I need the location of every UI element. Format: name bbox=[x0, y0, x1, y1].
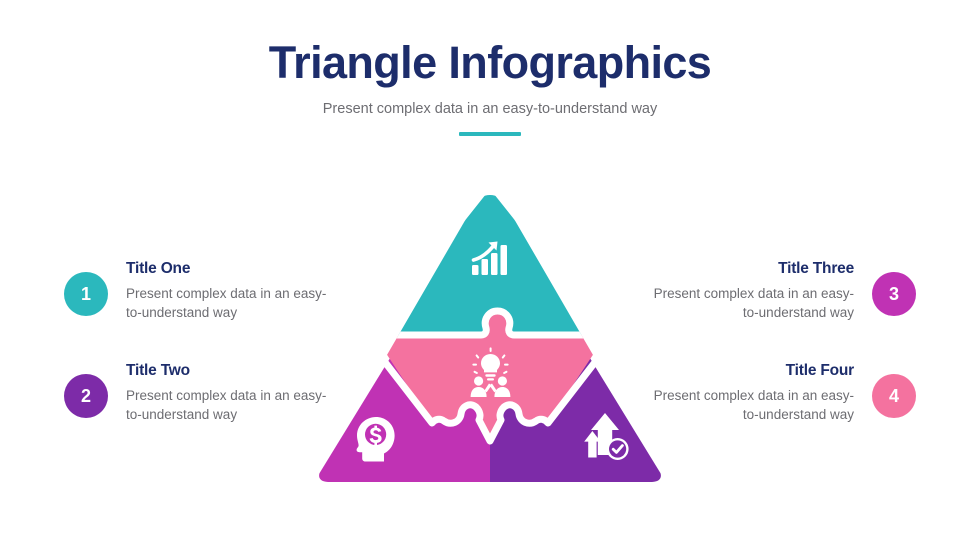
badge-number-4: 4 bbox=[872, 374, 916, 418]
page-header: Triangle Infographics Present complex da… bbox=[0, 36, 980, 136]
badge-number-3: 3 bbox=[872, 272, 916, 316]
badge-number-2: 2 bbox=[64, 374, 108, 418]
puzzle-triangle-diagram bbox=[300, 185, 680, 495]
badge-number-1: 1 bbox=[64, 272, 108, 316]
page-title: Triangle Infographics bbox=[0, 36, 980, 90]
accent-divider bbox=[459, 132, 521, 136]
page-subtitle: Present complex data in an easy-to-under… bbox=[0, 99, 980, 119]
